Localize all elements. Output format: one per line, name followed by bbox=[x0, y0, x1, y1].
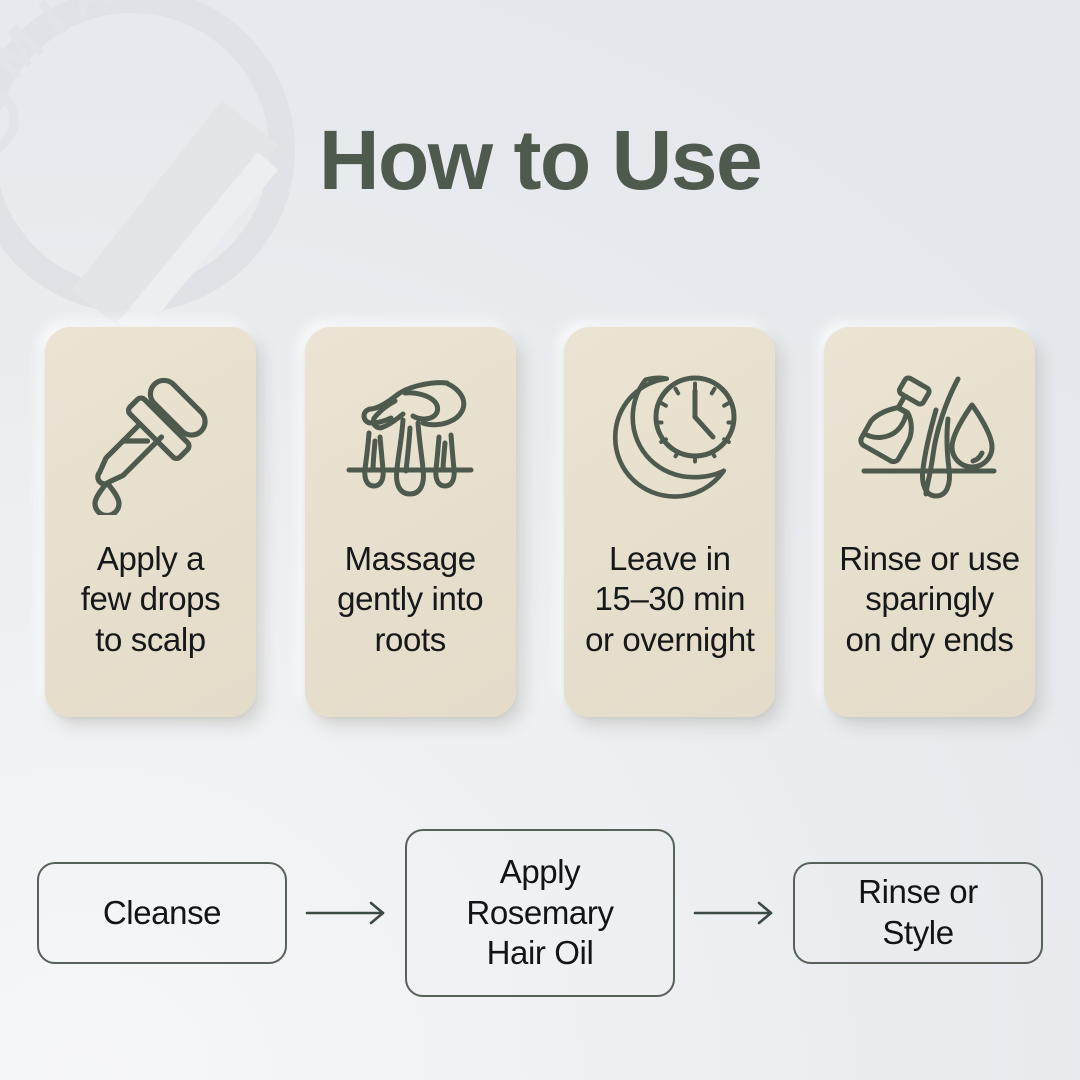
steps-row: Apply a few drops to scalp bbox=[45, 327, 1035, 717]
dropper-icon bbox=[76, 365, 226, 515]
flow-node-label: Cleanse bbox=[103, 893, 221, 934]
bottle-follicle-droplet-icon bbox=[854, 365, 1004, 515]
step-card-label: Rinse or use sparingly on dry ends bbox=[829, 539, 1029, 660]
page-title: How to Use bbox=[0, 118, 1080, 202]
step-card-massage: Massage gently into roots bbox=[305, 327, 516, 717]
hand-massage-follicle-icon bbox=[335, 365, 485, 515]
flow-node-cleanse[interactable]: Cleanse bbox=[37, 862, 287, 964]
infographic-canvas: M I A N A How to Use bbox=[0, 0, 1080, 1080]
svg-text:M: M bbox=[0, 13, 55, 90]
flow-node-apply-oil[interactable]: Apply Rosemary Hair Oil bbox=[405, 829, 675, 997]
step-card-label: Apply a few drops to scalp bbox=[51, 539, 251, 660]
step-card-label: Massage gently into roots bbox=[310, 539, 510, 660]
arrow-right-icon bbox=[675, 898, 793, 928]
svg-text:N: N bbox=[113, 0, 162, 4]
step-card-leave-in: Leave in 15–30 min or overnight bbox=[564, 327, 775, 717]
step-card-label: Leave in 15–30 min or overnight bbox=[570, 539, 770, 660]
step-card-rinse: Rinse or use sparingly on dry ends bbox=[824, 327, 1035, 717]
moon-clock-icon bbox=[595, 365, 745, 515]
step-card-apply-drops: Apply a few drops to scalp bbox=[45, 327, 256, 717]
flow-node-label: Apply Rosemary Hair Oil bbox=[466, 852, 613, 975]
arrow-right-icon bbox=[287, 898, 405, 928]
flow-node-label: Rinse or Style bbox=[858, 872, 978, 954]
flow-node-rinse-style[interactable]: Rinse or Style bbox=[793, 862, 1043, 964]
flow-diagram: Cleanse Apply Rosemary Hair Oil bbox=[0, 828, 1080, 998]
svg-text:I: I bbox=[28, 0, 75, 48]
svg-text:A: A bbox=[59, 0, 120, 29]
